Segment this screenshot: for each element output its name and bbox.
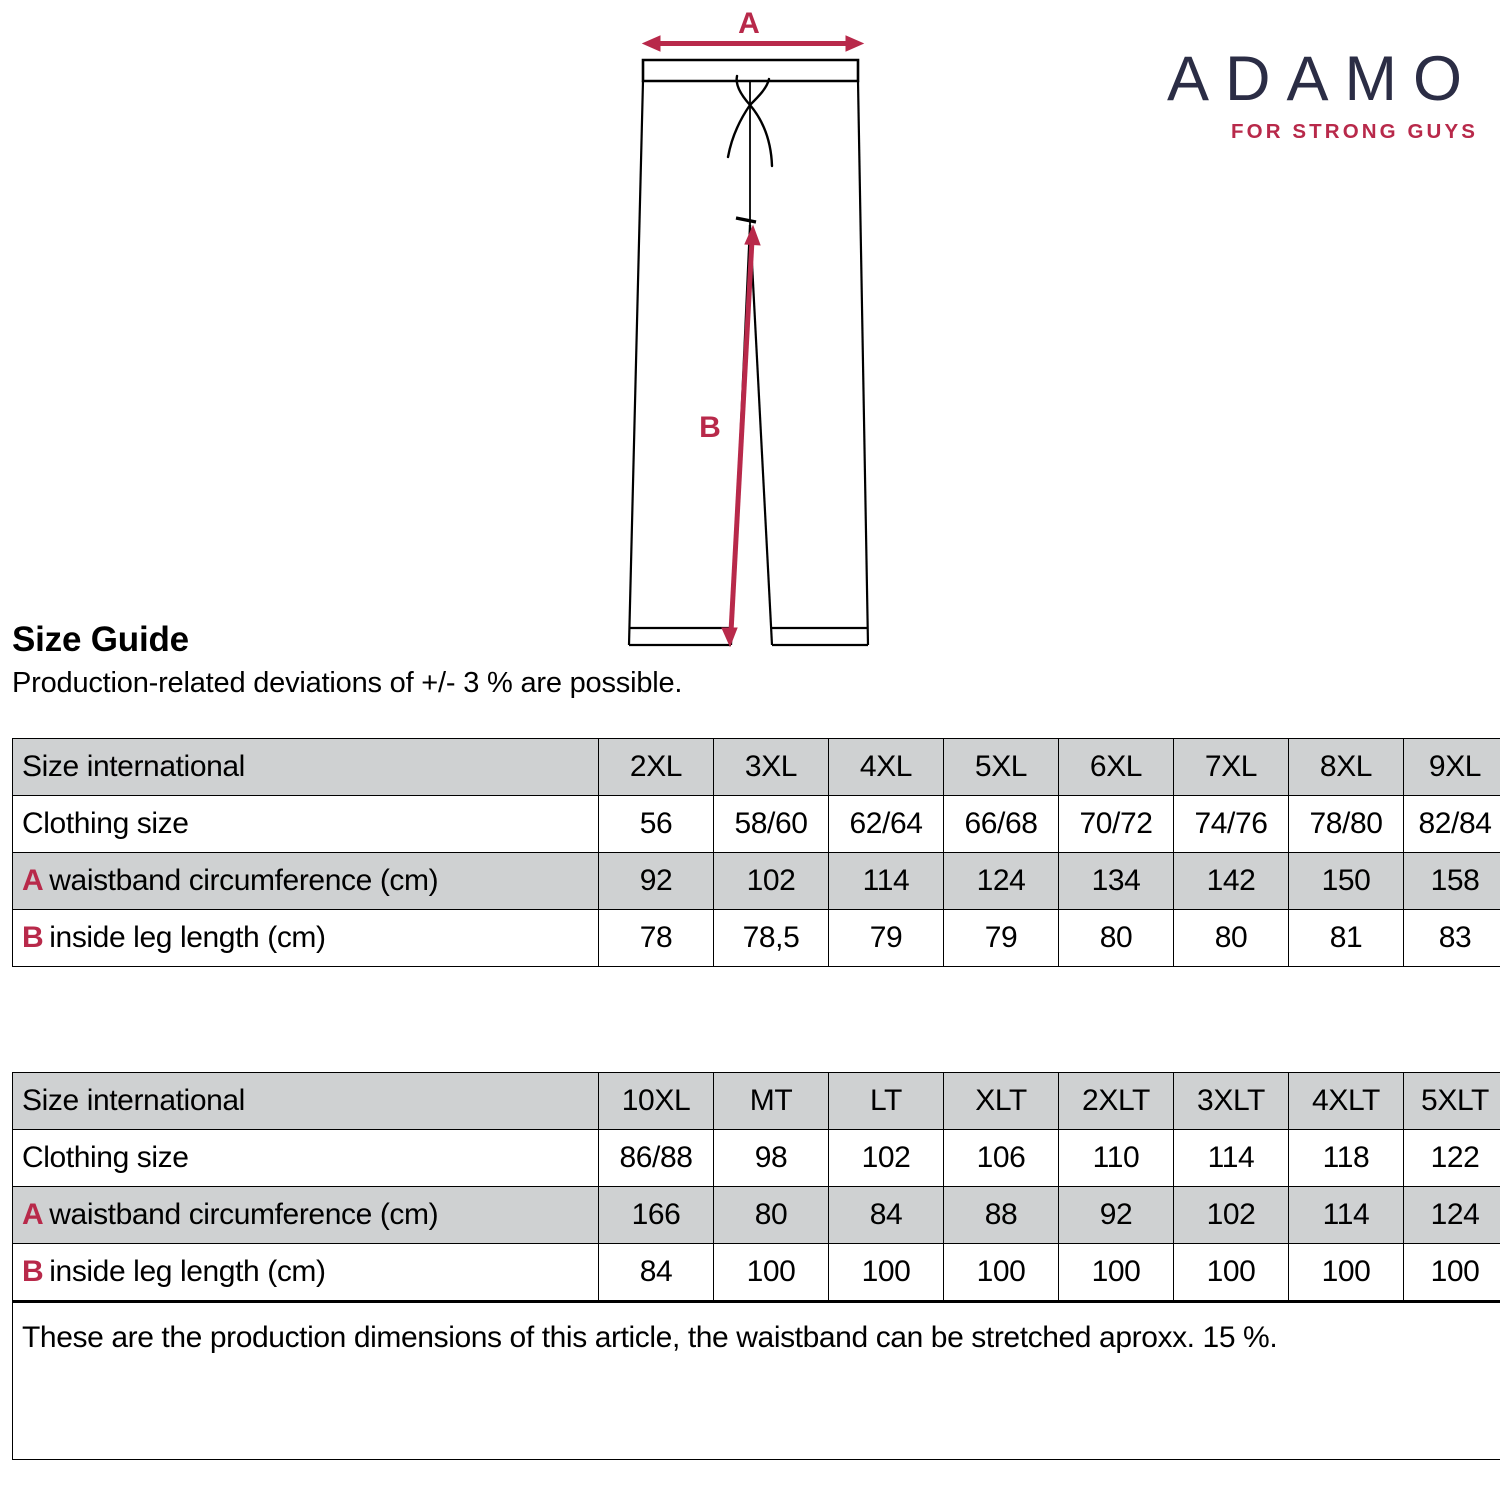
table-cell: 6XL [1059, 739, 1174, 796]
table-cell: 56 [599, 796, 714, 853]
table-row-footer-note: These are the production dimensions of t… [13, 1302, 1500, 1460]
pants-technical-drawing: A B [600, 0, 910, 670]
table-cell: 92 [599, 853, 714, 910]
table-cell: 4XL [829, 739, 944, 796]
table-cell: 100 [1174, 1244, 1289, 1302]
dim-key-b: B [22, 921, 43, 954]
size-table-standard: Size international 2XL 3XL 4XL 5XL 6XL 7… [12, 738, 1500, 967]
table-cell: 2XL [599, 739, 714, 796]
table-cell: 114 [1174, 1130, 1289, 1187]
table-cell: 80 [714, 1187, 829, 1244]
table-cell: 150 [1289, 853, 1404, 910]
table-cell: 124 [1404, 1187, 1500, 1244]
table-cell: 122 [1404, 1130, 1500, 1187]
table-cell: 81 [1289, 910, 1404, 967]
row-label-inside-leg: Binside leg length (cm) [13, 1244, 599, 1302]
row-label-size-international: Size international [13, 739, 599, 796]
table-cell: 3XL [714, 739, 829, 796]
dim-key-b: B [22, 1255, 43, 1288]
size-guide-heading-block: Size Guide Production-related deviations… [12, 622, 912, 699]
table-cell: 3XLT [1174, 1073, 1289, 1130]
size-table-tall: Size international 10XL MT LT XLT 2XLT 3… [12, 1072, 1500, 1460]
table-cell: 100 [714, 1244, 829, 1302]
table-cell: 8XL [1289, 739, 1404, 796]
table-row-waistband: Awaistband circumference (cm) 92 102 114… [13, 853, 1500, 910]
deviation-note: Production-related deviations of +/- 3 %… [12, 667, 912, 699]
table-cell: 7XL [1174, 739, 1289, 796]
measurement-label-a: A [738, 7, 760, 40]
table-cell: 114 [829, 853, 944, 910]
table-cell: 84 [599, 1244, 714, 1302]
brand-wordmark: ADAMO [1151, 48, 1478, 111]
table-cell: 4XLT [1289, 1073, 1404, 1130]
table-cell: 58/60 [714, 796, 829, 853]
table-row-size-international: Size international 10XL MT LT XLT 2XLT 3… [13, 1073, 1500, 1130]
measurement-label-b: B [699, 411, 721, 444]
table-cell: 80 [1059, 910, 1174, 967]
table-cell: 10XL [599, 1073, 714, 1130]
table-row-inside-leg: Binside leg length (cm) 84 100 100 100 1… [13, 1244, 1500, 1302]
pants-body-outline [629, 81, 868, 645]
brand-tagline: FOR STRONG GUYS [1151, 122, 1478, 143]
table-cell: 70/72 [1059, 796, 1174, 853]
table-cell: 114 [1289, 1187, 1404, 1244]
pants-waistband [643, 60, 858, 81]
table-cell: 106 [944, 1130, 1059, 1187]
table-cell: 86/88 [599, 1130, 714, 1187]
table-cell: 78 [599, 910, 714, 967]
table-cell: 102 [829, 1130, 944, 1187]
row-label-text: waistband circumference (cm) [49, 864, 438, 897]
table-cell: 84 [829, 1187, 944, 1244]
row-label-text: inside leg length (cm) [49, 1255, 325, 1288]
row-label-size-international: Size international [13, 1073, 599, 1130]
table-cell: 92 [1059, 1187, 1174, 1244]
pants-crotch-tick [736, 218, 756, 222]
table-cell: 118 [1289, 1130, 1404, 1187]
table-cell: 78,5 [714, 910, 829, 967]
table-cell: 124 [944, 853, 1059, 910]
row-label-text: inside leg length (cm) [49, 921, 325, 954]
table-cell: 100 [1289, 1244, 1404, 1302]
table-cell: 2XLT [1059, 1073, 1174, 1130]
row-label-waistband: Awaistband circumference (cm) [13, 853, 599, 910]
table-cell: 78/80 [1289, 796, 1404, 853]
table-cell: 80 [1174, 910, 1289, 967]
table-cell: 82/84 [1404, 796, 1500, 853]
table-cell: 79 [944, 910, 1059, 967]
table-cell: 79 [829, 910, 944, 967]
dim-key-a: A [22, 864, 43, 897]
table-row-clothing-size: Clothing size 86/88 98 102 106 110 114 1… [13, 1130, 1500, 1187]
table-cell: 66/68 [944, 796, 1059, 853]
table-cell: 83 [1404, 910, 1500, 967]
table-cell: 110 [1059, 1130, 1174, 1187]
table-cell: 100 [1059, 1244, 1174, 1302]
table-cell: 100 [1404, 1244, 1500, 1302]
table-row-inside-leg: Binside leg length (cm) 78 78,5 79 79 80… [13, 910, 1500, 967]
table-cell: 100 [944, 1244, 1059, 1302]
row-label-inside-leg: Binside leg length (cm) [13, 910, 599, 967]
table-row-size-international: Size international 2XL 3XL 4XL 5XL 6XL 7… [13, 739, 1500, 796]
row-label-waistband: Awaistband circumference (cm) [13, 1187, 599, 1244]
table-cell: 98 [714, 1130, 829, 1187]
table-row-clothing-size: Clothing size 56 58/60 62/64 66/68 70/72… [13, 796, 1500, 853]
table-cell: 88 [944, 1187, 1059, 1244]
row-label-clothing-size: Clothing size [13, 796, 599, 853]
table-cell: 62/64 [829, 796, 944, 853]
table-cell: 102 [1174, 1187, 1289, 1244]
production-dimensions-note: These are the production dimensions of t… [13, 1302, 1500, 1460]
table-cell: 5XLT [1404, 1073, 1500, 1130]
table-cell: 158 [1404, 853, 1500, 910]
brand-logo: ADAMO FOR STRONG GUYS [1151, 48, 1478, 143]
table-cell: 100 [829, 1244, 944, 1302]
dim-key-a: A [22, 1198, 43, 1231]
table-cell: XLT [944, 1073, 1059, 1130]
table-cell: 5XL [944, 739, 1059, 796]
table-cell: 166 [599, 1187, 714, 1244]
table-row-waistband: Awaistband circumference (cm) 166 80 84 … [13, 1187, 1500, 1244]
table-cell: 134 [1059, 853, 1174, 910]
page-title: Size Guide [12, 622, 912, 659]
table-cell: 74/76 [1174, 796, 1289, 853]
table-cell: 102 [714, 853, 829, 910]
row-label-text: waistband circumference (cm) [49, 1198, 438, 1231]
table-cell: MT [714, 1073, 829, 1130]
table-cell: LT [829, 1073, 944, 1130]
table-cell: 142 [1174, 853, 1289, 910]
row-label-clothing-size: Clothing size [13, 1130, 599, 1187]
table-cell: 9XL [1404, 739, 1500, 796]
